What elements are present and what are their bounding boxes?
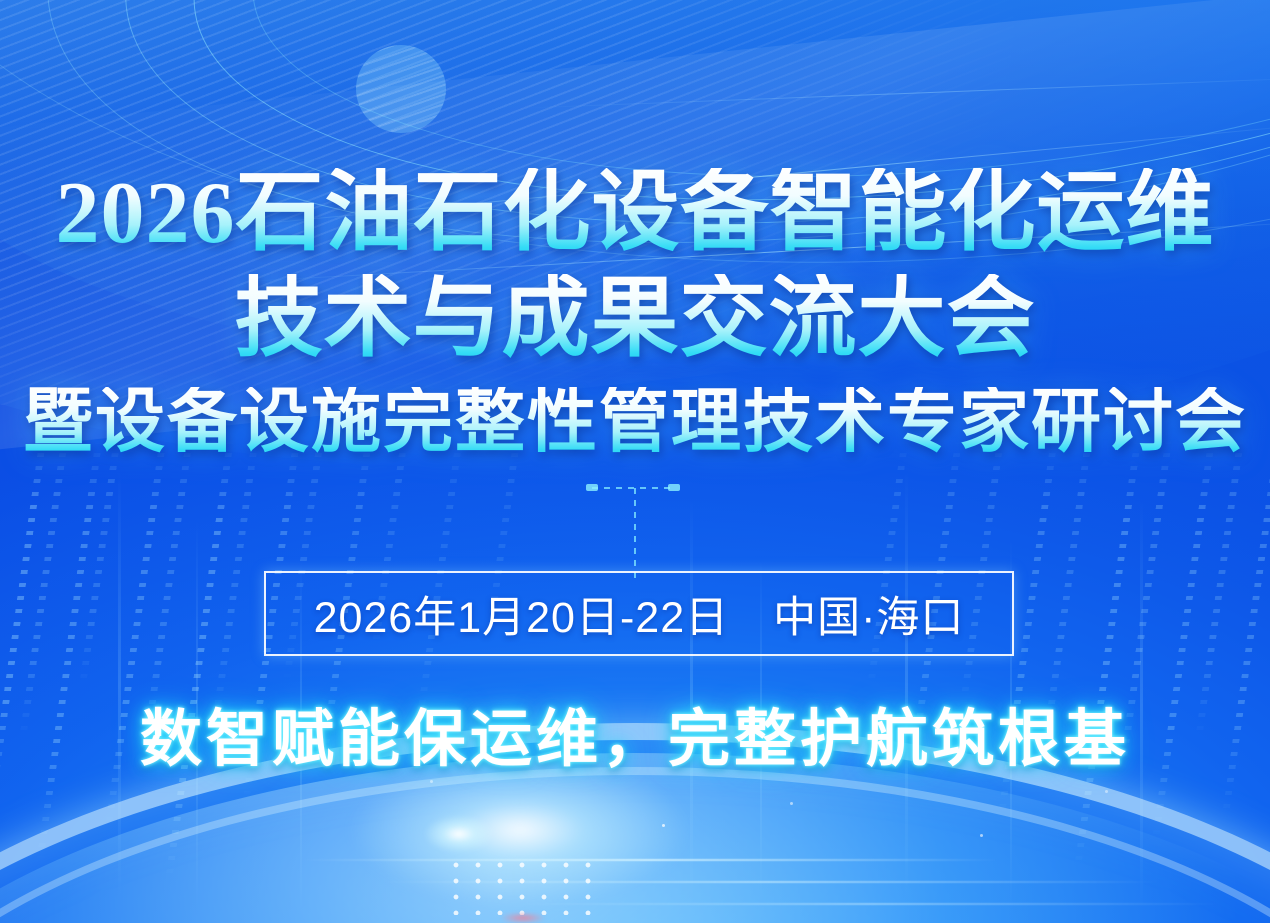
title-line-2: 技术与成果交流大会 <box>0 274 1270 366</box>
conference-title-block: 2026石油石化设备智能化运维 技术与成果交流大会 暨设备设施完整性管理技术专家… <box>0 168 1270 460</box>
poster-content: 2026石油石化设备智能化运维 技术与成果交流大会 暨设备设施完整性管理技术专家… <box>0 0 1270 923</box>
date-location-text: 2026年1月20日-22日 中国·海口 <box>314 583 965 645</box>
title-line-1: 2026石油石化设备智能化运维 <box>0 168 1270 260</box>
title-line-3: 暨设备设施完整性管理技术专家研讨会 <box>0 387 1270 460</box>
conference-slogan: 数智赋能保运维，完整护航筑根基 <box>0 688 1270 778</box>
conference-poster: 2026石油石化设备智能化运维 技术与成果交流大会 暨设备设施完整性管理技术专家… <box>0 0 1270 923</box>
date-location-box: 2026年1月20日-22日 中国·海口 <box>264 571 1014 656</box>
